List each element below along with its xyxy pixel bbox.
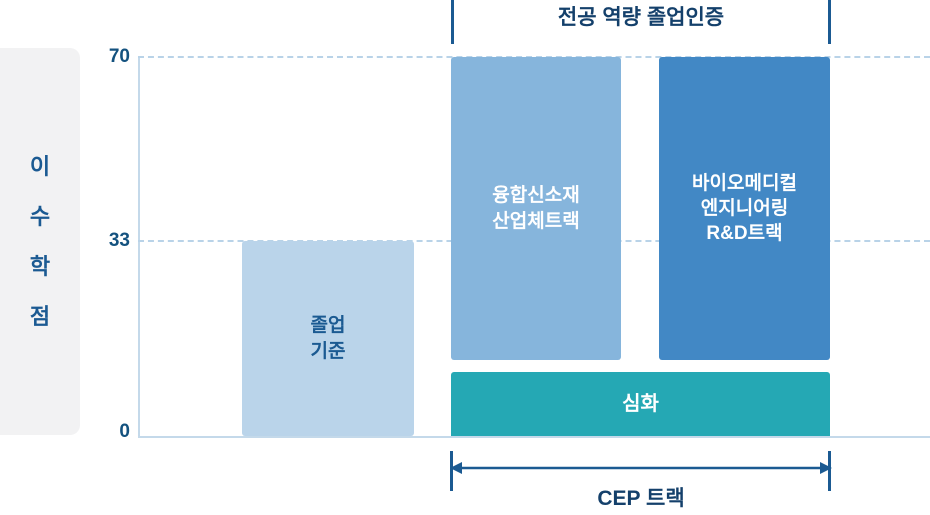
x-axis-line — [138, 436, 930, 438]
y-axis-title-char-1: 이 — [30, 156, 50, 178]
y-axis-title-char-3: 학 — [30, 256, 50, 278]
y-tick-33: 33 — [109, 231, 130, 250]
y-axis-tick-labels: 70 33 0 — [88, 0, 130, 515]
y-tick-70: 70 — [109, 47, 130, 66]
bar-advanced-span-label: 심화 — [622, 391, 659, 417]
bottom-bracket-label: CEP 트랙 — [451, 488, 831, 509]
chart-canvas: 이 수 학 점 70 33 0 졸업 기준 융합신소재 산업체트랙 바이오메디컬… — [0, 0, 930, 515]
y-tick-0: 0 — [119, 422, 130, 441]
bar-track-convergence-materials-label: 융합신소재 산업체트랙 — [492, 183, 579, 233]
y-axis-title-char-2: 수 — [30, 206, 50, 228]
bar-track-biomedical-engineering-label: 바이오메디컬 엔지니어링 R&D트랙 — [692, 171, 797, 246]
bar-graduation-baseline-label: 졸업 기준 — [311, 313, 346, 363]
bar-track-convergence-materials[interactable]: 융합신소재 산업체트랙 — [451, 57, 621, 360]
bar-track-biomedical-engineering[interactable]: 바이오메디컬 엔지니어링 R&D트랙 — [659, 57, 830, 360]
bar-advanced-span[interactable]: 심화 — [451, 372, 830, 436]
bar-graduation-baseline[interactable]: 졸업 기준 — [242, 241, 414, 436]
y-axis-title-char-4: 점 — [30, 306, 50, 328]
y-axis-line — [138, 57, 140, 437]
y-axis-title-panel: 이 수 학 점 — [0, 48, 80, 435]
double-headed-arrow-icon — [444, 458, 838, 478]
top-bracket-label: 전공 역량 졸업인증 — [451, 7, 831, 28]
